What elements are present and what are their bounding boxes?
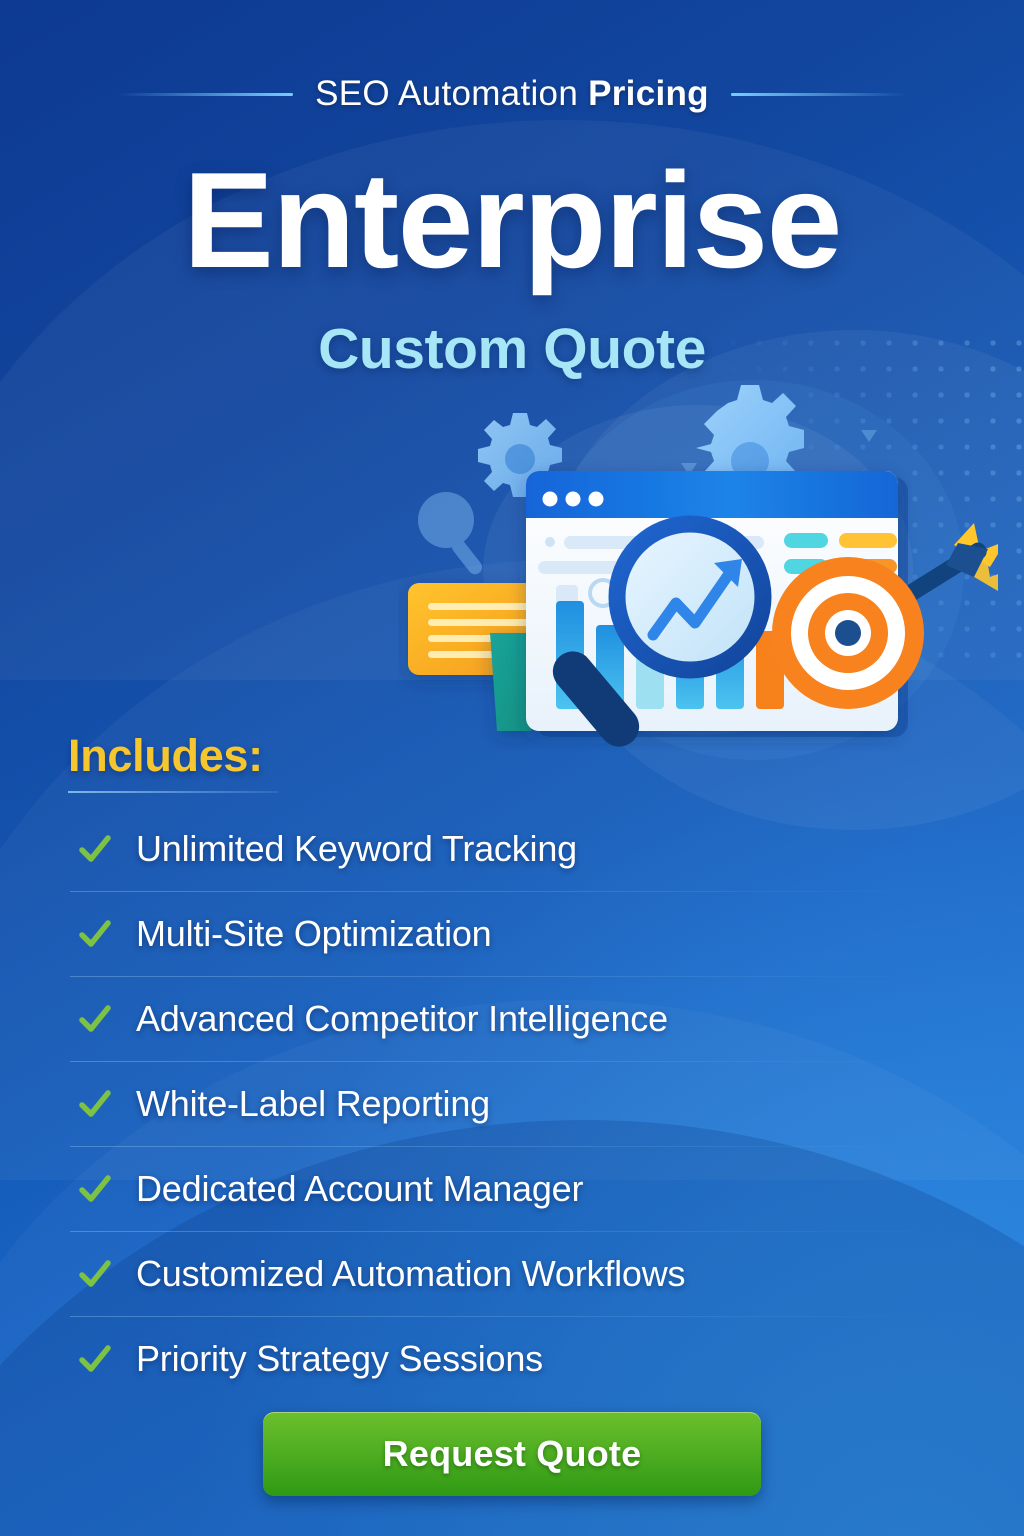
feature-label: Dedicated Account Manager: [136, 1168, 583, 1210]
magnifier-lens: [617, 524, 763, 670]
check-icon: [78, 832, 112, 866]
feature-label: Advanced Competitor Intelligence: [136, 998, 668, 1040]
window-dot-2: [566, 492, 581, 507]
includes-underline: [68, 791, 278, 793]
decorative-triangle-3: [861, 430, 877, 442]
tag-chip-yellow-1: [839, 533, 897, 548]
eyebrow-rule-right: [731, 93, 906, 96]
feature-label: Customized Automation Workflows: [136, 1253, 685, 1295]
list-item: White-Label Reporting: [70, 1061, 954, 1146]
feature-label: White-Label Reporting: [136, 1083, 490, 1125]
check-icon: [78, 1002, 112, 1036]
list-item: Advanced Competitor Intelligence: [70, 976, 954, 1061]
decorative-magnifier-icon: [418, 492, 485, 577]
request-quote-button[interactable]: Request Quote: [263, 1412, 761, 1496]
cta-container: Request Quote: [0, 1412, 1024, 1496]
tag-chip-cyan-1: [784, 533, 828, 548]
list-item: Customized Automation Workflows: [70, 1231, 954, 1316]
window-dot-3: [589, 492, 604, 507]
includes-title: Includes:: [68, 730, 278, 782]
feature-label: Priority Strategy Sessions: [136, 1338, 543, 1380]
list-item: Dedicated Account Manager: [70, 1146, 954, 1231]
plan-title: Enterprise: [0, 152, 1024, 288]
eyebrow-prefix: SEO Automation: [315, 74, 588, 113]
check-icon: [78, 1087, 112, 1121]
check-icon: [78, 1342, 112, 1376]
list-item: Unlimited Keyword Tracking: [70, 806, 954, 891]
includes-header: Includes:: [68, 730, 278, 793]
feature-label: Multi-Site Optimization: [136, 913, 492, 955]
feature-list: Unlimited Keyword Tracking Multi-Site Op…: [70, 806, 954, 1401]
eyebrow-emphasis: Pricing: [588, 74, 709, 113]
feature-label: Unlimited Keyword Tracking: [136, 828, 577, 870]
target-icon: [772, 557, 924, 709]
eyebrow-header: SEO Automation Pricing: [0, 74, 1024, 114]
list-item: Multi-Site Optimization: [70, 891, 954, 976]
window-dot-1: [543, 492, 558, 507]
check-icon: [78, 1257, 112, 1291]
eyebrow-label: SEO Automation Pricing: [315, 74, 709, 114]
check-icon: [78, 917, 112, 951]
eyebrow-rule-left: [118, 93, 293, 96]
list-item: Priority Strategy Sessions: [70, 1316, 954, 1401]
seo-analytics-dashboard-illustration: [398, 385, 998, 750]
plan-price-label: Custom Quote: [0, 316, 1024, 382]
check-icon: [78, 1172, 112, 1206]
